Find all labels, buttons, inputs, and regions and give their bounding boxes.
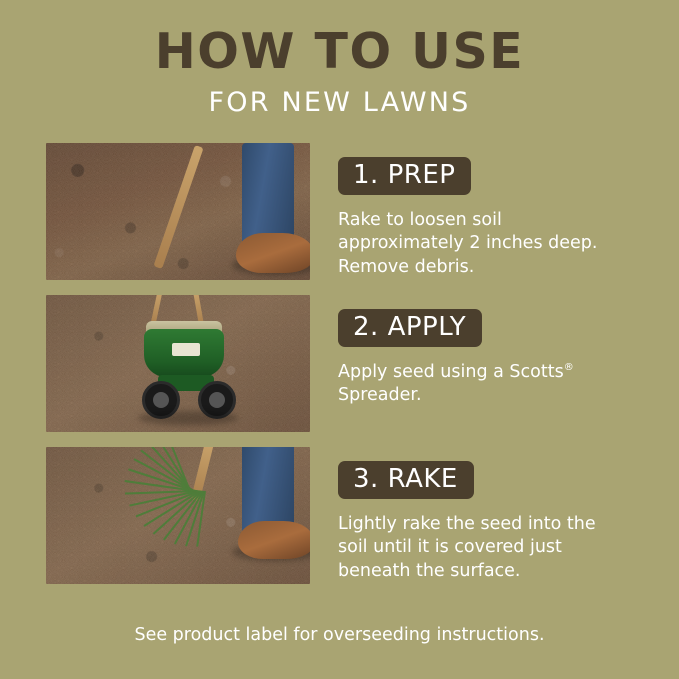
step-2: 2. APPLY Apply seed using a Scotts® Spre… <box>46 295 636 432</box>
boot <box>236 233 310 273</box>
step-3-description: Lightly rake the seed into the soil unti… <box>338 513 613 583</box>
step-3-text: 3. RAKE Lightly rake the seed into the s… <box>310 447 636 583</box>
step-2-badge: 2. APPLY <box>338 309 482 347</box>
footer-note: See product label for overseeding instru… <box>0 625 679 645</box>
step-1: 1. PREP Rake to loosen soil approximatel… <box>46 143 636 280</box>
page-title: HOW TO USE <box>0 26 679 77</box>
steps-list: 1. PREP Rake to loosen soil approximatel… <box>46 143 636 599</box>
step-2-description: Apply seed using a Scotts® Spreader. <box>338 361 613 408</box>
step-1-badge: 1. PREP <box>338 157 471 195</box>
page-subtitle: FOR NEW LAWNS <box>0 87 679 118</box>
how-to-use-infographic: HOW TO USE FOR NEW LAWNS <box>0 0 679 679</box>
spreader-label <box>172 343 200 356</box>
step-1-photo <box>46 143 310 280</box>
step-3-badge: 3. RAKE <box>338 461 474 499</box>
step-1-description: Rake to loosen soil approximately 2 inch… <box>338 209 613 279</box>
step-2-text: 2. APPLY Apply seed using a Scotts® Spre… <box>310 295 636 408</box>
boot <box>238 521 310 559</box>
spreader-shadow <box>138 411 238 425</box>
step-2-photo <box>46 295 310 432</box>
step-1-text: 1. PREP Rake to loosen soil approximatel… <box>310 143 636 279</box>
step-3-photo <box>46 447 310 584</box>
step-2-description-main: Apply seed using a Scotts <box>338 362 564 382</box>
step-2-description-tail: Spreader. <box>338 385 422 405</box>
registered-mark: ® <box>564 362 574 373</box>
header: HOW TO USE FOR NEW LAWNS <box>0 0 679 118</box>
step-3: 3. RAKE Lightly rake the seed into the s… <box>46 447 636 584</box>
